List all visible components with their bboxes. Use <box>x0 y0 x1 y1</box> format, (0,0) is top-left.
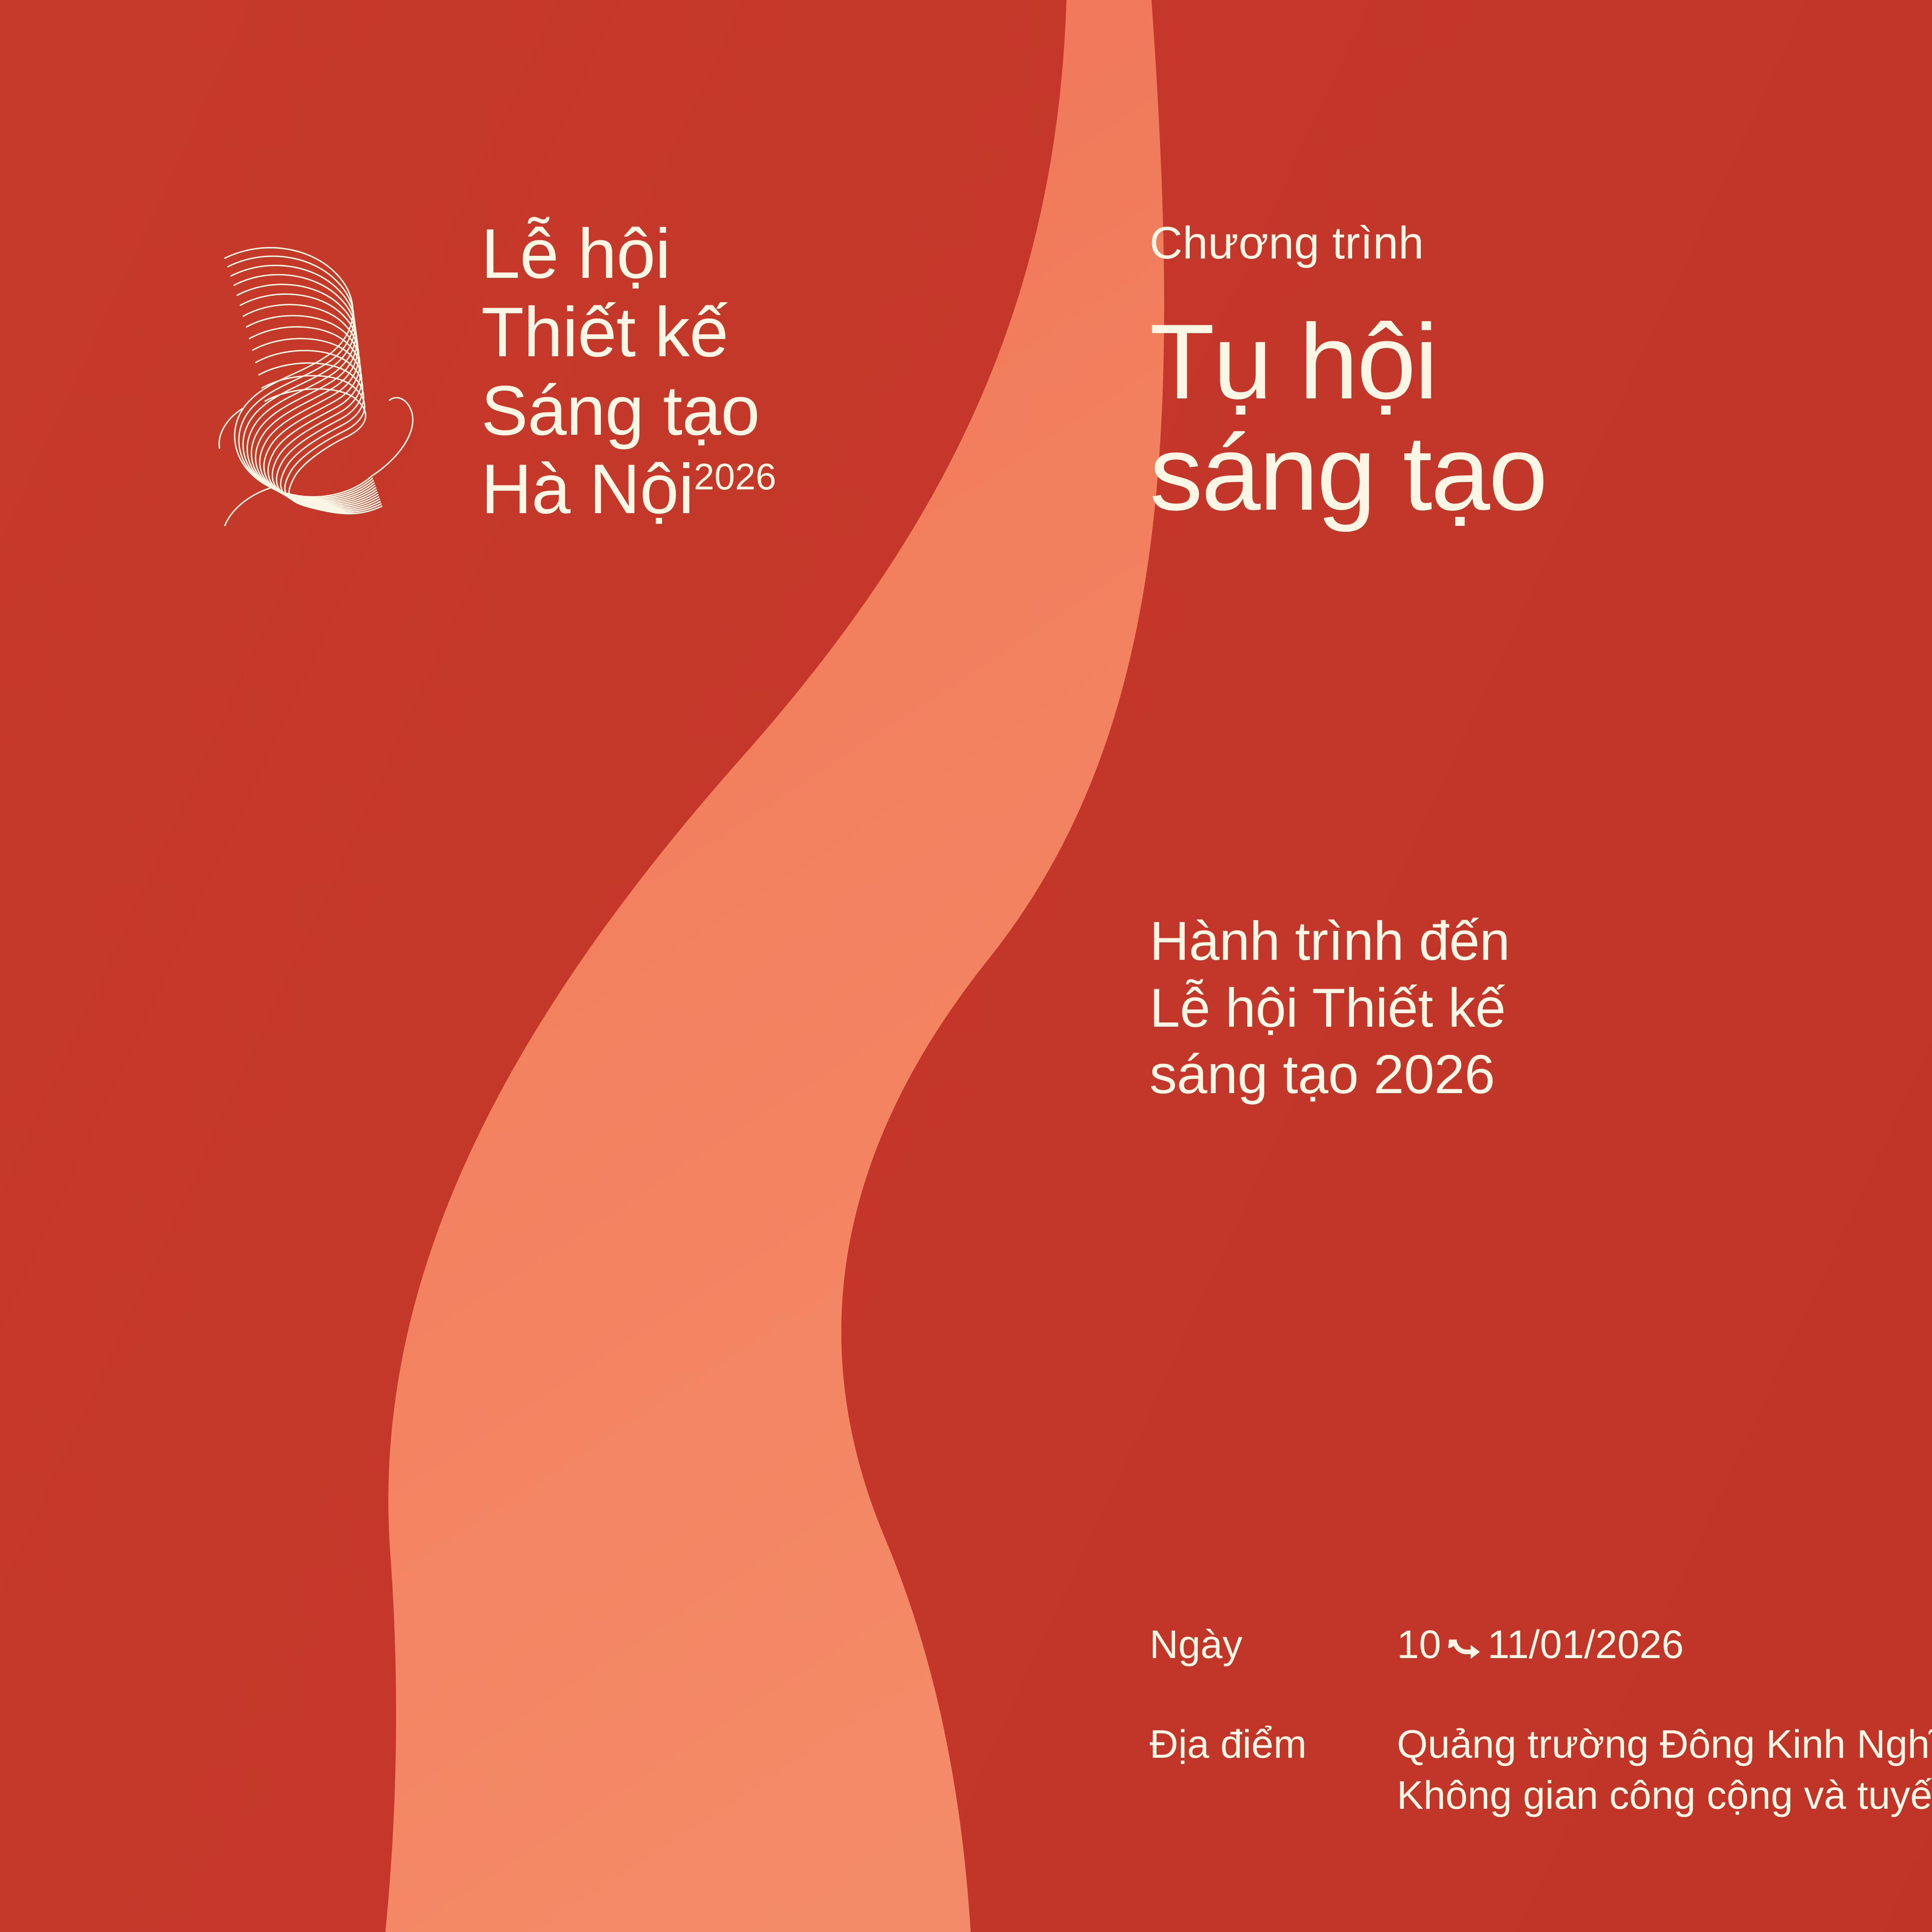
meta-row-venue: Địa điểm Quảng trường Đông Kinh Nghĩa Th… <box>1150 1719 1932 1821</box>
s-wave-logo <box>182 201 468 564</box>
poster-canvas: Lễ hội Thiết kế Sáng tạo Hà Nội2026 Chươ… <box>0 0 1932 1932</box>
meta-value-venue: Quảng trường Đông Kinh Nghĩa Thục · Nhà … <box>1397 1719 1932 1821</box>
meta-label-date: Ngày <box>1150 1619 1397 1670</box>
meta-label-venue: Địa điểm <box>1150 1719 1397 1770</box>
festival-wordmark: Lễ hội Thiết kế Sáng tạo Hà Nội2026 <box>481 214 776 528</box>
date-end: 11/01/2026 <box>1488 1622 1684 1667</box>
meta-value-date: 1011/01/2026 <box>1397 1619 1684 1670</box>
hero-section: Lễ hội Thiết kế Sáng tạo Hà Nội2026 Chươ… <box>0 0 1932 1932</box>
curved-arrow-icon <box>1447 1637 1483 1660</box>
festival-line-2: Thiết kế <box>481 293 728 371</box>
meta-row-date: Ngày 1011/01/2026 <box>1150 1619 1932 1670</box>
subtitle-vietnamese: Hành trình đến Lễ hội Thiết kế sáng tạo … <box>1150 908 1932 1108</box>
festival-year: 2026 <box>694 456 776 497</box>
festival-line-4: Hà Nội <box>481 449 694 528</box>
column-vietnamese: Chương trình Tụ hội sáng tạo <box>1150 220 1922 529</box>
headline-vietnamese: Tụ hội sáng tạo <box>1150 306 1922 529</box>
event-meta: Ngày 1011/01/2026 Địa điểm Quảng trường … <box>1150 1619 1932 1820</box>
festival-line-3: Sáng tạo <box>481 371 760 450</box>
eyebrow-vietnamese: Chương trình <box>1150 220 1922 266</box>
date-start: 10 <box>1397 1622 1441 1667</box>
festival-line-1: Lễ hội <box>481 214 670 293</box>
